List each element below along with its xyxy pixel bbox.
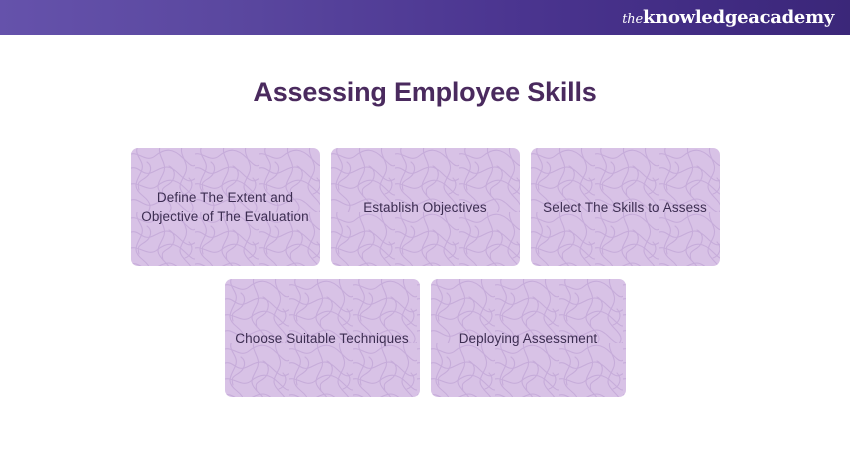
card-label: Define The Extent and Objective of The E… [131,188,320,226]
card-establish-objectives[interactable]: Establish Objectives [331,148,520,266]
card-row-bottom: Choose Suitable Techniques Deploying Ass… [0,279,850,397]
brand-logo-prefix: the [622,13,643,26]
card-label: Choose Suitable Techniques [225,329,418,348]
card-deploying-assessment[interactable]: Deploying Assessment [431,279,626,397]
card-label: Deploying Assessment [449,329,608,348]
card-choose-suitable-techniques[interactable]: Choose Suitable Techniques [225,279,420,397]
cards-area: Define The Extent and Objective of The E… [0,148,850,397]
brand-logo[interactable]: the knowledgeacademy [622,9,834,27]
header-bar: the knowledgeacademy [0,0,850,35]
card-label: Select The Skills to Assess [533,198,717,217]
card-select-skills-assess[interactable]: Select The Skills to Assess [531,148,720,266]
brand-logo-name: knowledgeacademy [643,9,834,27]
card-define-extent-objective[interactable]: Define The Extent and Objective of The E… [131,148,320,266]
page-title: Assessing Employee Skills [0,74,850,110]
card-label: Establish Objectives [353,198,497,217]
card-row-top: Define The Extent and Objective of The E… [0,148,850,266]
